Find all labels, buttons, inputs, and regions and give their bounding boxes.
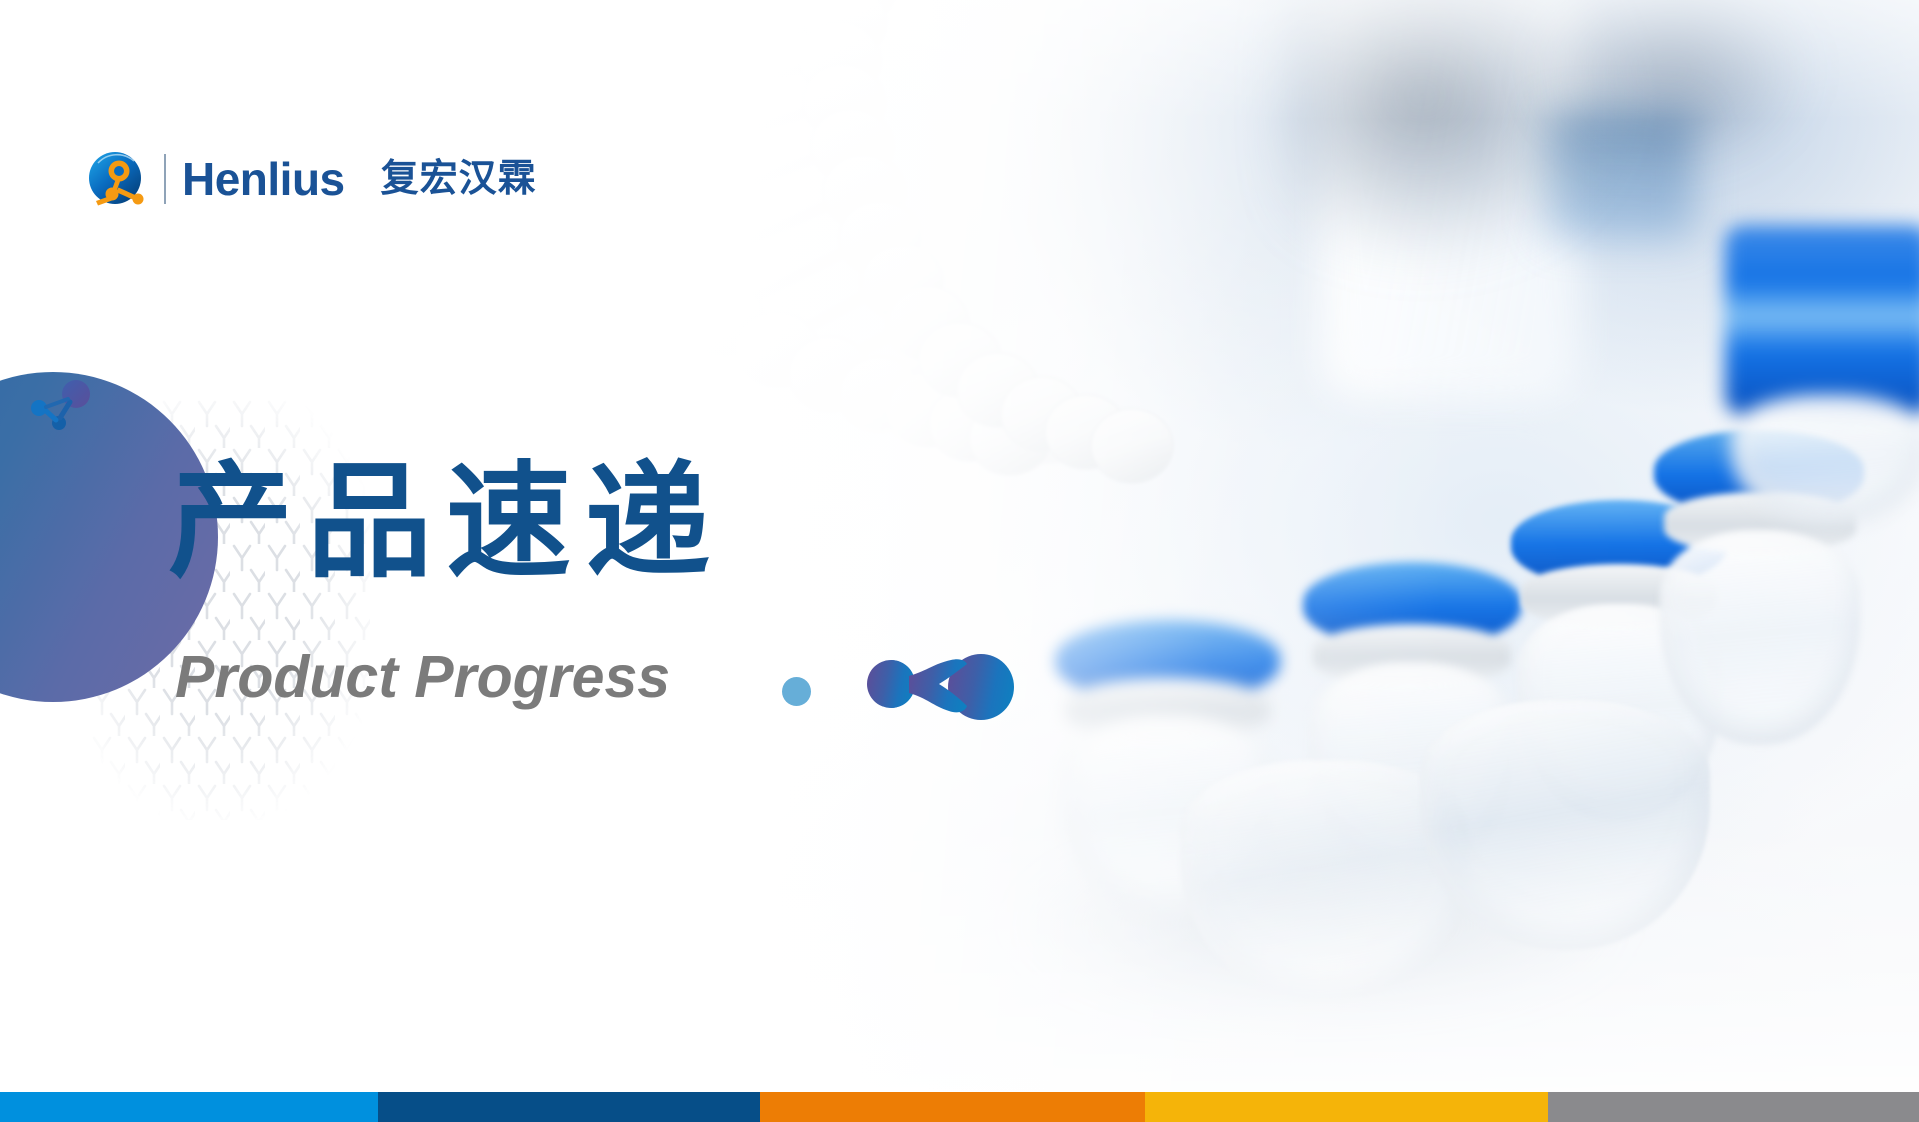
- molecule-accent-icon: [30, 380, 100, 430]
- bar-segment-navy-blue: [378, 1092, 760, 1122]
- bar-segment-light-blue: [0, 1092, 378, 1122]
- bottom-color-bar: [0, 1092, 1919, 1122]
- bar-segment-gray: [1548, 1092, 1919, 1122]
- molecule-link-shape: [855, 648, 1015, 726]
- logo-chinese-name: 复宏汉霖: [381, 160, 537, 198]
- logo-wordmark: Henlius: [182, 156, 345, 202]
- page-title-english: Product Progress: [175, 648, 670, 707]
- henlius-molecule-logo-icon: [88, 151, 144, 207]
- page-title-chinese: 产品速递: [168, 460, 724, 585]
- molecule-accent-svg: [30, 380, 100, 430]
- molecule-link-svg: [855, 648, 1015, 726]
- brand-logo[interactable]: Henlius 复宏汉霖: [88, 148, 537, 210]
- slide-root: Henlius 复宏汉霖 产品速递 Product Progress: [0, 0, 1919, 1122]
- bar-segment-amber: [1145, 1092, 1548, 1122]
- logo-divider: [164, 154, 166, 204]
- logo-mark-svg: [88, 151, 144, 207]
- molecule-small-dot: [782, 677, 811, 706]
- bar-segment-orange: [760, 1092, 1145, 1122]
